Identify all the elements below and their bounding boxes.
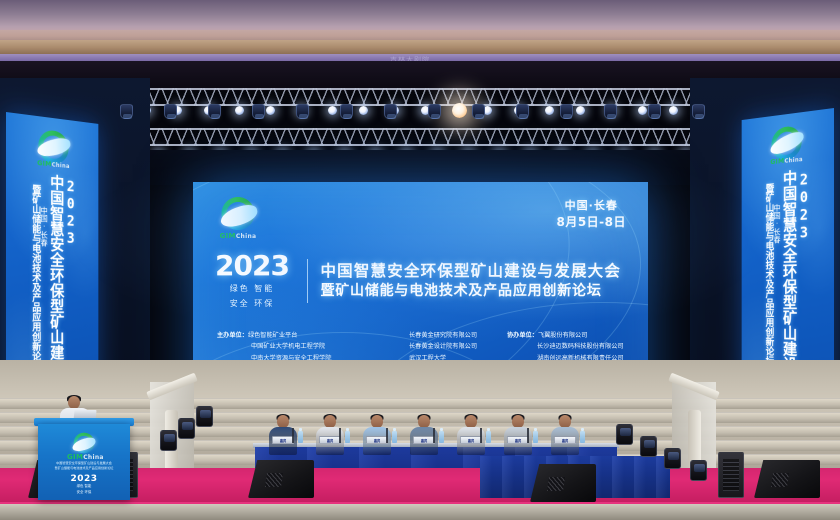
event-tagline-1: 绿色 智能 [215,283,289,295]
event-title-row: 2023 绿色 智能 安全 环保 中国智慧安全环保型矿山建设与发展大会 暨矿山储… [215,252,621,310]
table-microphone [339,428,341,443]
stage-monitor-speaker [248,460,314,498]
moving-head-light [208,104,221,119]
event-location-block: 中国·长春 8月5日-8日 [556,198,626,231]
panel-member [456,415,486,455]
panel-nameplate-text: 嘉宾 [367,437,387,445]
pa-speaker-right [718,452,744,498]
panel-nameplate-text: 嘉宾 [555,437,575,445]
step-moving-light [160,430,177,451]
moving-head-light [384,104,397,119]
stage-monitor-speaker [754,460,820,498]
moving-head-light [472,104,485,119]
moving-head-light [648,104,661,119]
event-title-main: 中国智慧安全环保型矿山建设与发展大会 [320,261,621,282]
gim-logo-text: GIMChina [211,232,265,240]
panel-member [315,415,345,455]
water-bottle [345,431,350,443]
event-date: 8月5日-8日 [556,214,626,231]
banner-right-logo: GIMChina [762,121,812,166]
gim-logo-text: GIMChina [67,453,101,461]
gim-logo-sub: China [83,454,104,461]
panel-member [268,415,298,455]
stage-monitor-speaker [530,464,596,502]
moving-head-light [164,104,177,119]
co-organizer-item: 长沙迪迈数码科技股份有限公司 [507,341,627,352]
podium-year: 2023 [38,474,130,484]
stage-dark-backdrop [150,150,690,185]
step-moving-light [178,418,195,439]
truss-light [545,106,554,115]
panel-member [503,415,533,455]
co-organizer-item: 飞翼股份有限公司 [538,332,588,339]
truss-light [669,106,678,115]
table-microphone [480,428,482,443]
organizers-label: 主办单位： [217,332,248,339]
title-divider [307,259,309,303]
podium-tagline-1: 绿色 智能 [38,484,130,489]
organizer-item: 绿色智能矿业平台 [248,332,298,339]
co-organizers-label: 协办单位： [507,332,538,339]
panel-nameplate-text: 嘉宾 [320,437,340,445]
moving-head-light [560,104,573,119]
truss-light [235,106,244,115]
auditorium-ceiling: 吉林大剧院 [0,0,840,78]
moving-head-light [516,104,529,119]
panel-nameplate-text: 嘉宾 [273,437,293,445]
panel-nameplate: 嘉宾 [272,436,294,444]
organizer-item: 中国矿业大学机电工程学院 [217,341,409,352]
panel-nameplate-text: 嘉宾 [508,437,528,445]
event-city: 中国·长春 [556,198,626,214]
moving-head-light [604,104,617,119]
organizer-item: 长春黄金研究院有限公司 [409,330,507,341]
conference-stage-scene: 吉林大剧院 GIMChina 2023 中国智慧安全环保型矿山建设与发展大会 中… [0,0,840,520]
panel-nameplate-text: 嘉宾 [414,437,434,445]
water-bottle [486,431,491,443]
truss-light [328,106,337,115]
water-bottle [392,431,397,443]
moving-head-light [340,104,353,119]
speaking-podium: GIMChina 中国智慧安全环保型矿山建设与发展大会 暨矿山储能与电池技术及产… [38,424,130,500]
truss-light [638,106,647,115]
panel-member [409,415,439,455]
event-title-sub: 暨矿山储能与电池技术及产品应用创新论坛 [320,282,621,302]
panel-nameplate: 嘉宾 [554,436,576,444]
gim-logo-main: GIM [37,159,52,168]
moving-head-light [428,104,441,119]
panel-nameplate: 嘉宾 [413,436,435,444]
truss-light [359,106,368,115]
step-moving-light [690,460,707,481]
moving-head-light [120,104,133,119]
table-microphone [386,428,388,443]
panel-member [362,415,392,455]
step-moving-light [616,424,633,445]
event-year-block: 2023 绿色 智能 安全 环保 [215,252,298,310]
step-moving-light [196,406,213,427]
step-moving-light [640,436,657,457]
moving-head-light [252,104,265,119]
ceiling-band [0,30,840,40]
gim-logo-main: GIM [220,232,236,240]
gim-logo-sub: China [236,233,257,240]
water-bottle [580,431,585,443]
panel-member [550,415,580,455]
podium-line-2: 暨矿山储能与电池技术及产品应用创新论坛 [46,466,122,471]
step-moving-light [664,448,681,469]
table-microphone [292,428,294,443]
banner-left-logo: GIMChina [28,125,78,169]
stage-front-lip [0,504,840,520]
event-titles: 中国智慧安全环保型矿山建设与发展大会 暨矿山储能与电池技术及产品应用创新论坛 [320,261,621,302]
organizer-item: 长春黄金设计院有限公司 [409,341,507,352]
truss-light [266,106,275,115]
truss-light [452,103,467,118]
table-microphone [433,428,435,443]
ceiling-cornice [0,40,840,54]
event-year: 2023 [215,252,289,280]
table-microphone [527,428,529,443]
panel-nameplate: 嘉宾 [319,436,341,444]
gim-logo-main: GIM [67,453,83,461]
water-bottle [298,431,303,443]
podium-tagline-2: 安全 环保 [38,490,130,495]
truss-light [576,106,585,115]
screen-gim-logo: GIMChina [211,194,265,238]
podium-gim-logo: GIMChina [67,431,101,459]
panel-nameplate: 嘉宾 [460,436,482,444]
water-bottle [439,431,444,443]
panel-nameplate: 嘉宾 [366,436,388,444]
panel-nameplate-text: 嘉宾 [461,437,481,445]
moving-head-light [692,104,705,119]
gim-logo-main: GIM [770,157,784,166]
water-bottle [533,431,538,443]
moving-head-light [296,104,309,119]
event-tagline-2: 安全 环保 [215,298,289,310]
panel-nameplate: 嘉宾 [507,436,529,444]
